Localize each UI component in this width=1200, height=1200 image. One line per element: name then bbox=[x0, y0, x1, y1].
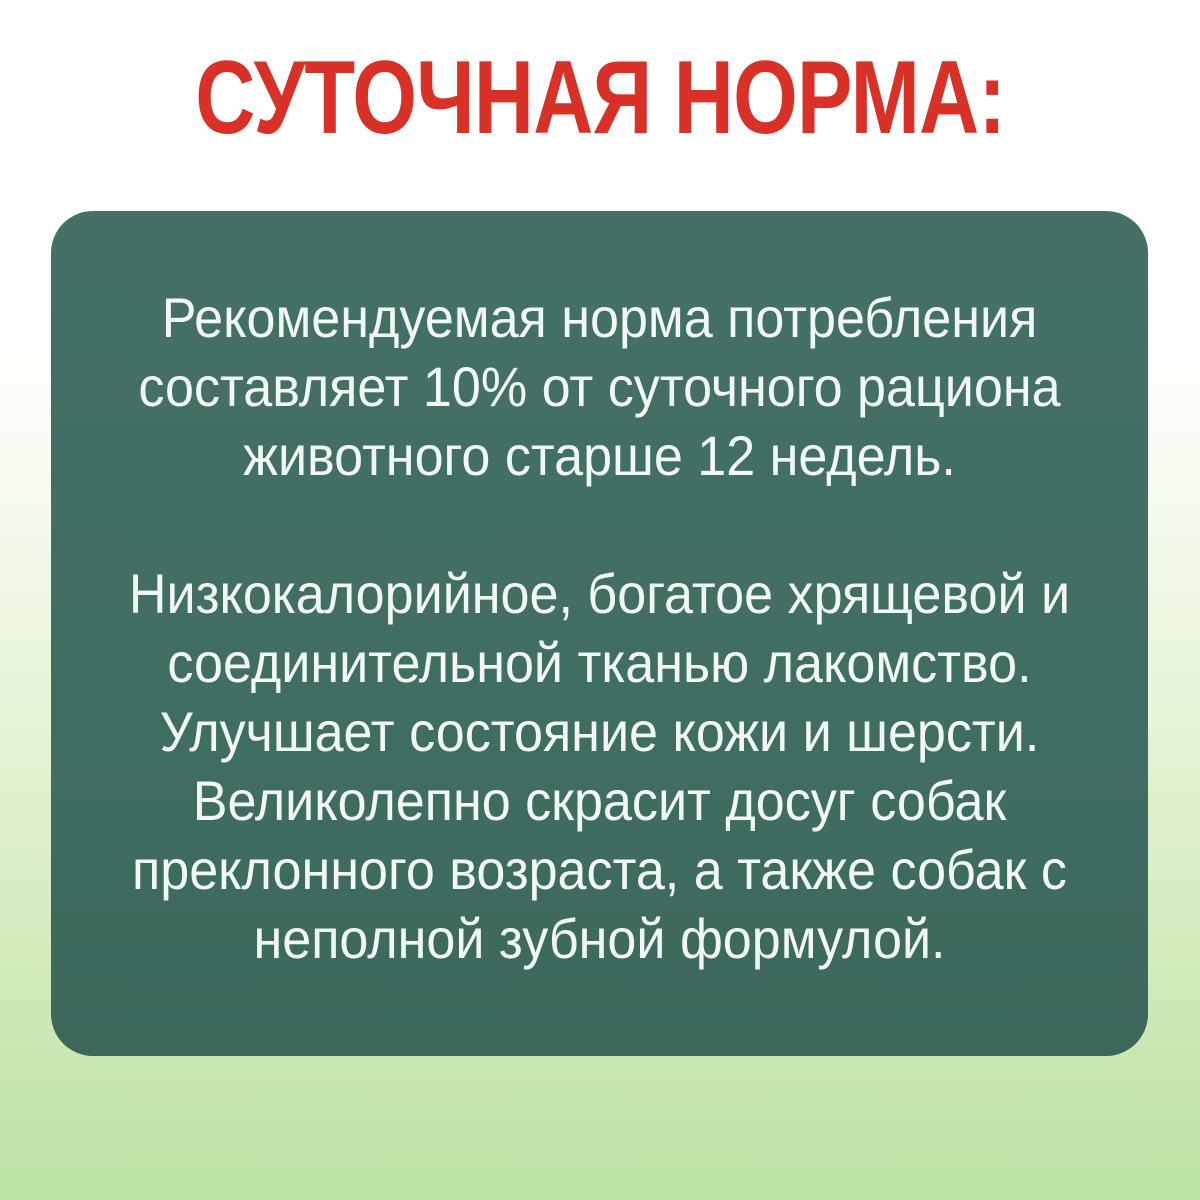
info-card: Рекомендуемая норма потребления составля… bbox=[51, 211, 1148, 1056]
page-title: СУТОЧНАЯ НОРМА: bbox=[195, 46, 1005, 150]
page-title-container: СУТОЧНАЯ НОРМА: bbox=[0, 46, 1200, 150]
infographic-page: СУТОЧНАЯ НОРМА: Рекомендуемая норма потр… bbox=[0, 0, 1200, 1200]
paragraph-recommended-dose: Рекомендуемая норма потребления составля… bbox=[127, 283, 1073, 490]
paragraph-benefits: Низкокалорийное, богатое хрящевой и соед… bbox=[127, 559, 1073, 973]
